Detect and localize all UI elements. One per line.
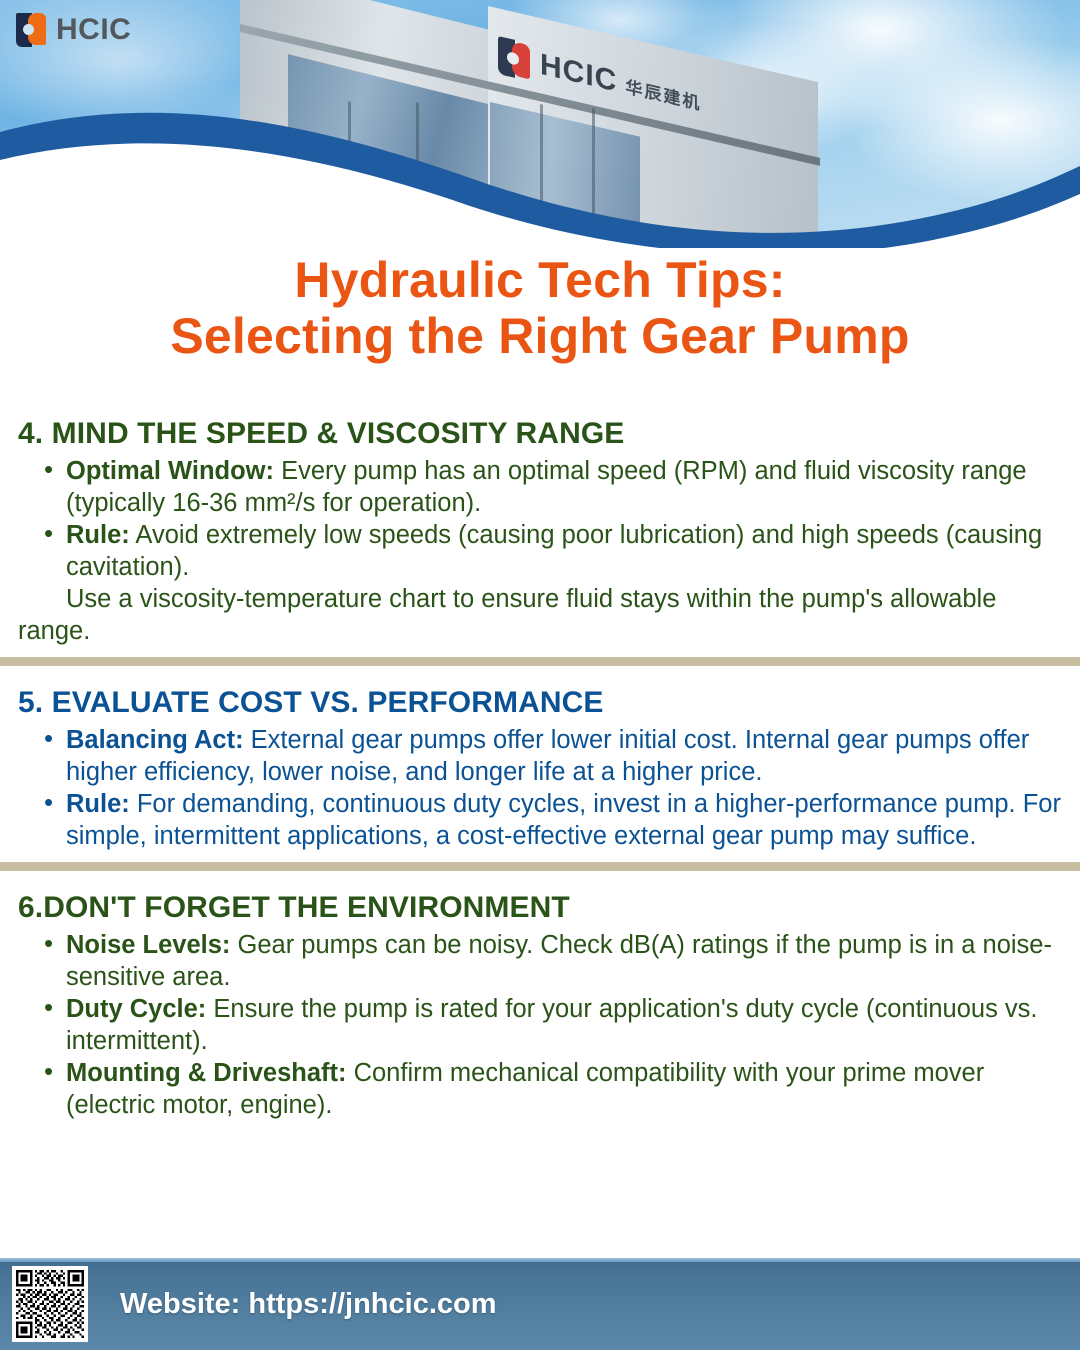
hcic-logo: HCIC [16, 13, 131, 47]
footer-top-hairline [0, 1258, 1080, 1262]
list-item: Duty Cycle: Ensure the pump is rated for… [18, 993, 1064, 1057]
section-5-heading: 5. EVALUATE COST VS. PERFORMANCE [18, 683, 1064, 722]
section-4-note: Use a viscosity-temperature chart to ens… [18, 583, 1064, 647]
section-5: 5. EVALUATE COST VS. PERFORMANCE Balanci… [0, 683, 1080, 852]
bullet-label: Optimal Window: [66, 457, 274, 485]
list-item: Optimal Window: Every pump has an optima… [18, 455, 1064, 519]
qr-code-icon [16, 1270, 84, 1338]
hcic-logo-mark-icon [16, 13, 47, 47]
section-6-heading: 6.DON'T FORGET THE ENVIRONMENT [18, 888, 1064, 927]
bullet-text: Ensure the pump is rated for your applic… [66, 995, 1038, 1055]
bullet-label: Rule: [66, 790, 130, 818]
hcic-logo-text: HCIC [56, 13, 131, 47]
hero-banner: HCIC 华辰建机 HCIC [0, 0, 1080, 248]
list-item: Mounting & Driveshaft: Confirm mechanica… [18, 1057, 1064, 1121]
bullet-text: Avoid extremely low speeds (causing poor… [66, 521, 1042, 581]
bullet-label: Mounting & Driveshaft: [66, 1059, 347, 1087]
tips-content: 4. MIND THE SPEED & VISCOSITY RANGE Opti… [0, 414, 1080, 1121]
section-5-list: Balancing Act: External gear pumps offer… [18, 724, 1064, 852]
section-4: 4. MIND THE SPEED & VISCOSITY RANGE Opti… [0, 414, 1080, 647]
website-label[interactable]: Website: https://jnhcic.com [120, 1288, 497, 1321]
page-title: Hydraulic Tech Tips: Selecting the Right… [0, 252, 1080, 364]
bullet-label: Duty Cycle: [66, 995, 206, 1023]
list-item: Rule: For demanding, continuous duty cyc… [18, 788, 1064, 852]
list-item: Noise Levels: Gear pumps can be noisy. C… [18, 929, 1064, 993]
title-line-2: Selecting the Right Gear Pump [0, 308, 1080, 364]
footer-bar: Website: https://jnhcic.com [0, 1258, 1080, 1350]
section-divider [0, 657, 1080, 666]
list-item: Rule: Avoid extremely low speeds (causin… [18, 519, 1064, 583]
section-divider [0, 862, 1080, 871]
section-6-list: Noise Levels: Gear pumps can be noisy. C… [18, 929, 1064, 1121]
section-6: 6.DON'T FORGET THE ENVIRONMENT Noise Lev… [0, 888, 1080, 1121]
section-4-note-text: Use a viscosity-temperature chart to ens… [18, 585, 996, 645]
title-line-1: Hydraulic Tech Tips: [294, 252, 785, 308]
blue-wave-divider [0, 0, 1080, 248]
bullet-label: Noise Levels: [66, 931, 230, 959]
qr-code[interactable] [12, 1266, 88, 1342]
bullet-label: Balancing Act: [66, 726, 244, 754]
section-4-heading: 4. MIND THE SPEED & VISCOSITY RANGE [18, 414, 1064, 453]
bullet-text: For demanding, continuous duty cycles, i… [66, 790, 1061, 850]
section-4-list: Optimal Window: Every pump has an optima… [18, 455, 1064, 583]
bullet-label: Rule: [66, 521, 130, 549]
list-item: Balancing Act: External gear pumps offer… [18, 724, 1064, 788]
